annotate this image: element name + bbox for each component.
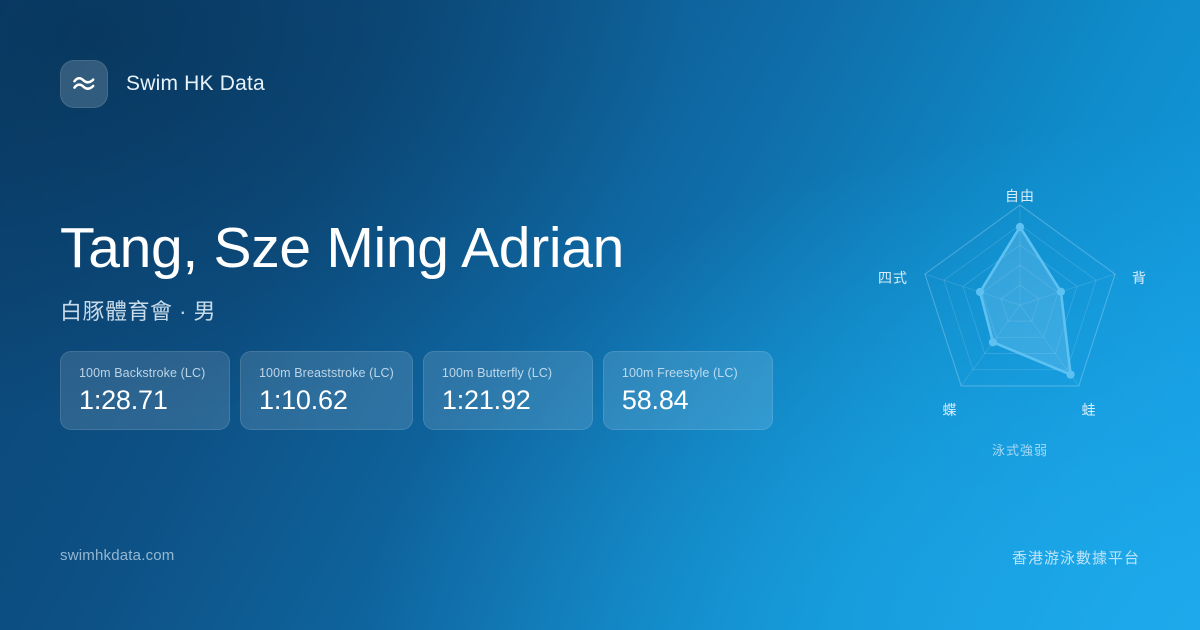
radar-caption: 泳式強弱 [860,440,1180,459]
stat-value: 1:28.71 [79,387,211,414]
stat-label: 100m Breaststroke (LC) [259,366,394,380]
stat-card[interactable]: 100m Backstroke (LC) 1:28.71 [60,351,230,430]
stroke-radar-chart: 泳式強弱 自由背蛙蝶四式 [860,168,1180,468]
stat-value: 58.84 [622,387,754,414]
stat-card[interactable]: 100m Freestyle (LC) 58.84 [603,351,773,430]
footer-site-url[interactable]: swimhkdata.com [60,547,175,564]
footer-tagline: 香港游泳數據平台 [1012,547,1140,568]
radar-axis-label: 蛙 [1082,400,1097,420]
athlete-meta: 白豚體育會 · 男 [60,294,624,326]
stat-label: 100m Freestyle (LC) [622,366,754,380]
stat-card[interactable]: 100m Butterfly (LC) 1:21.92 [423,351,593,430]
share-card-canvas: Swim HK Data Tang, Sze Ming Adrian 白豚體育會… [0,0,1200,630]
radar-axis-label: 四式 [878,268,908,288]
page-title: Tang, Sze Ming Adrian [60,218,624,280]
stat-value: 1:10.62 [259,387,394,414]
stat-label: 100m Backstroke (LC) [79,366,211,380]
brand-name: Swim HK Data [126,72,265,96]
hero-block: Tang, Sze Ming Adrian 白豚體育會 · 男 [60,218,624,326]
brand-header[interactable]: Swim HK Data [60,60,265,108]
radar-axis-label: 自由 [1005,186,1035,206]
stat-label: 100m Butterfly (LC) [442,366,574,380]
stat-card-row: 100m Backstroke (LC) 1:28.71 100m Breast… [60,351,773,430]
stat-card[interactable]: 100m Breaststroke (LC) 1:10.62 [240,351,413,430]
radar-axis-label: 蝶 [943,400,958,420]
stat-value: 1:21.92 [442,387,574,414]
radar-axis-label: 背 [1132,268,1147,288]
wave-icon [60,60,108,108]
radar-svg [860,168,1180,443]
